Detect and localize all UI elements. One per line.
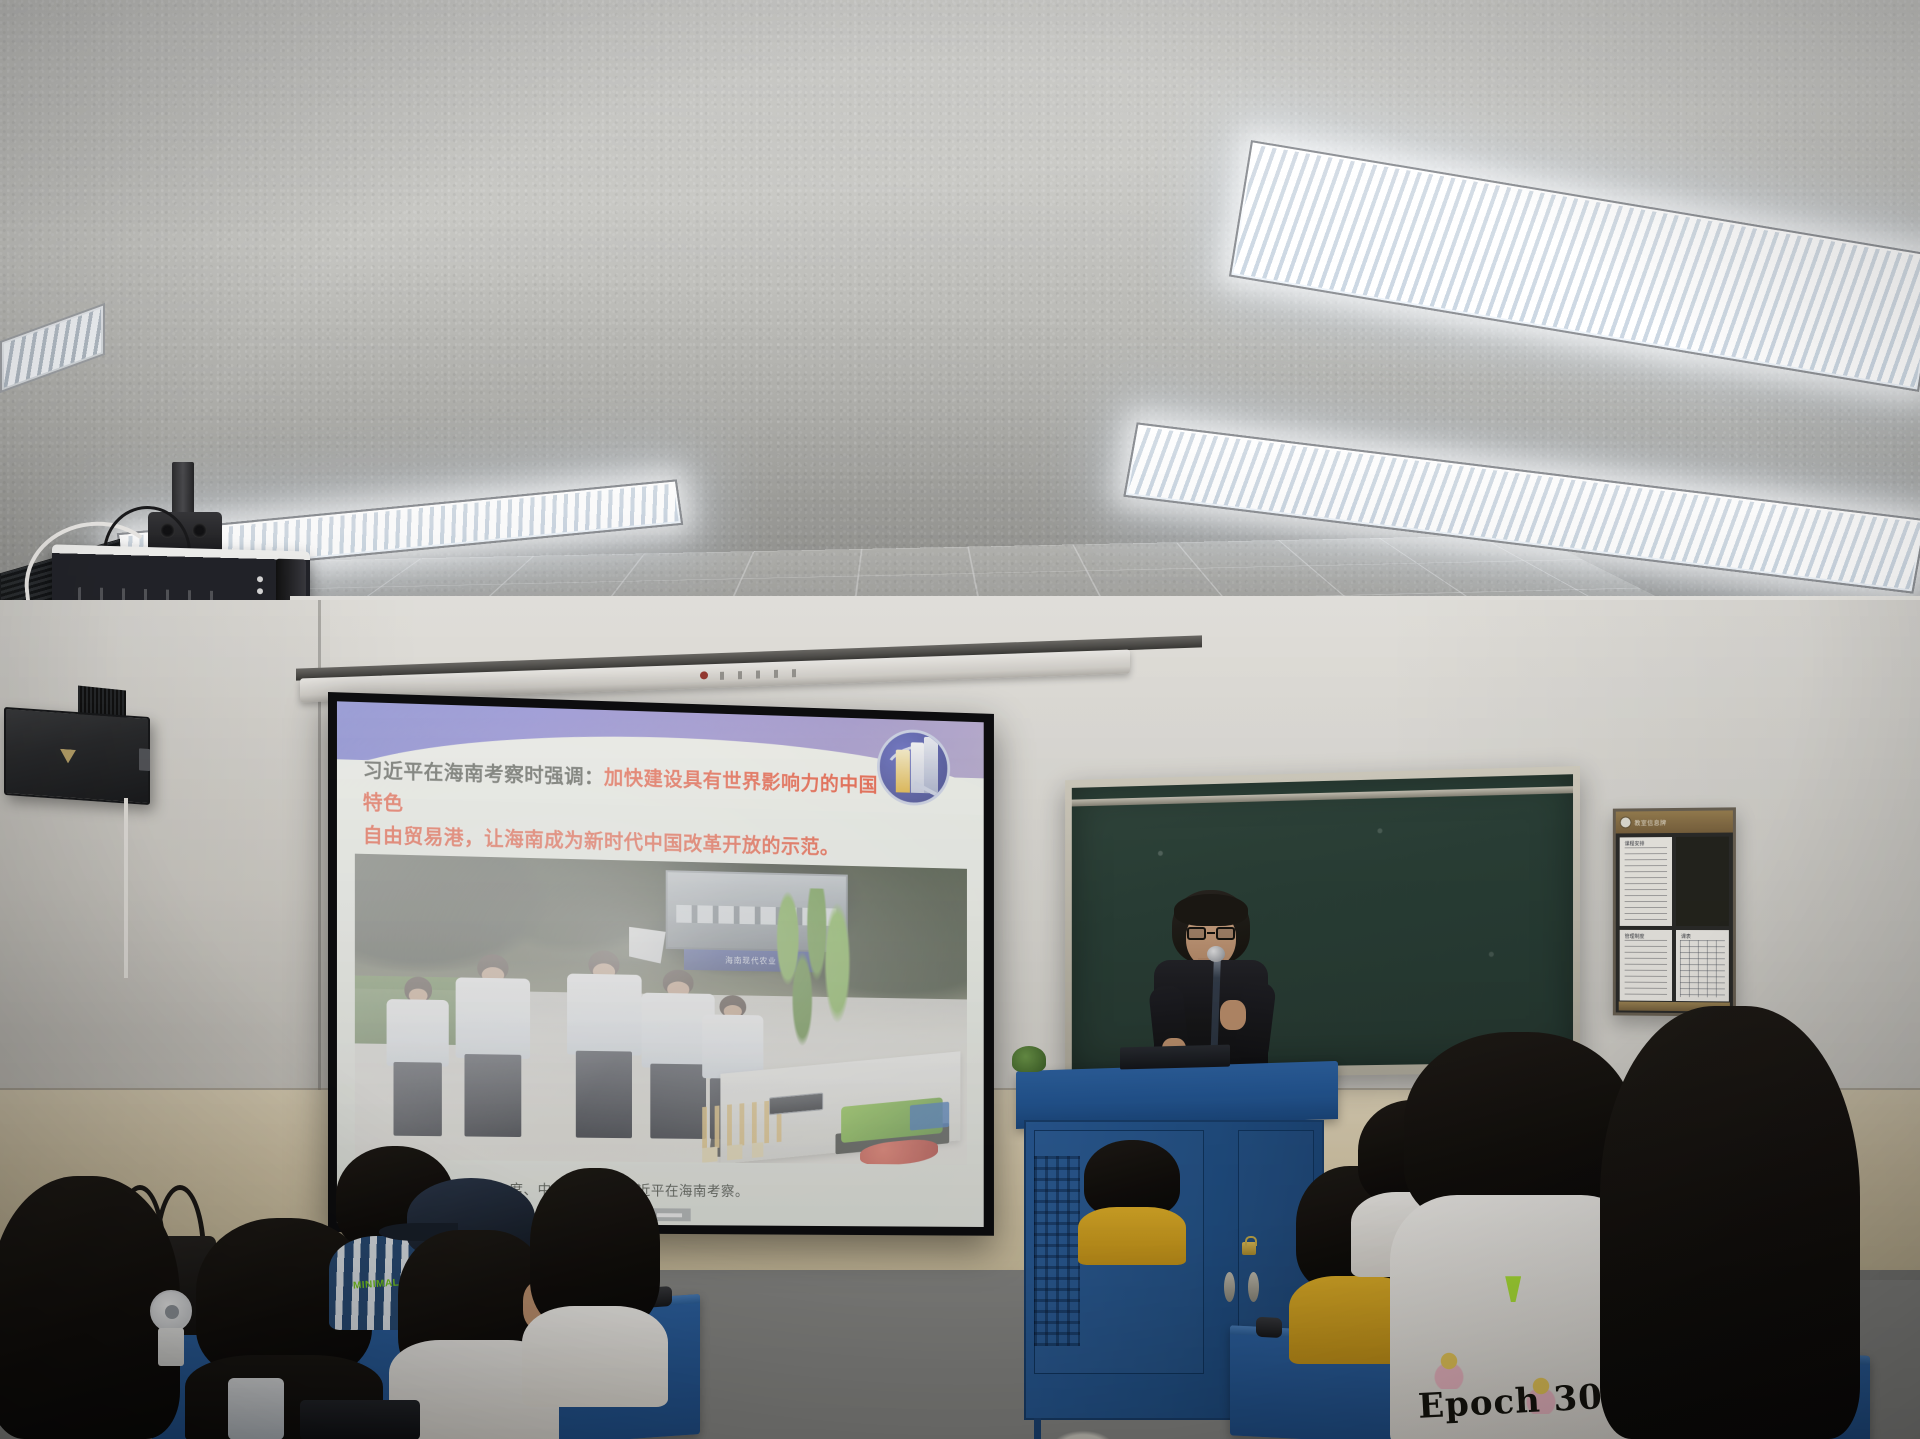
slide-title-emphasis-2: 自由贸易港，让海南成为新时代中国改革开放的示范。 (363, 823, 839, 859)
podium-top-surface (1016, 1061, 1338, 1129)
notice-board-header-text: 教室信息牌 (1634, 818, 1666, 827)
notice-panel-caption: 管理制度 (1625, 933, 1645, 940)
presenter-right-hand (1220, 1000, 1246, 1030)
photo-official (567, 950, 641, 1138)
shirt-floral-graphic (1432, 1349, 1466, 1389)
screen-control-strip[interactable] (720, 669, 796, 680)
photo-official (455, 953, 530, 1136)
student-long-hair-right (1600, 1006, 1860, 1439)
presenter-fringe (1174, 894, 1248, 926)
notice-panel-document: 课程安排 (1620, 837, 1672, 926)
small-potted-plant (1012, 1046, 1046, 1072)
notice-panel-schedule: 课表 (1676, 930, 1729, 1002)
notice-panel-text-lines (1625, 940, 1667, 997)
photo-agency-watermark (910, 1102, 949, 1131)
podium-handle[interactable] (1224, 1272, 1235, 1302)
notice-panel-rules: 管理制度 (1620, 930, 1672, 1001)
handheld-fan (150, 1290, 192, 1366)
student-yellow-shirt-far (1084, 1140, 1180, 1260)
play-bar-right (657, 1213, 682, 1217)
glasses-icon (1187, 927, 1235, 940)
notice-panel-text-lines (1625, 847, 1667, 922)
notice-board-panels: 课程安排 管理制度 课表 (1620, 837, 1729, 1002)
speaker-wire (124, 798, 128, 978)
slide-photograph: 海南现代农业 (355, 854, 967, 1165)
notice-board-header: 教室信息牌 (1616, 810, 1733, 833)
photo-foliage (757, 888, 859, 1057)
smartphone[interactable] (300, 1400, 420, 1439)
podium-vent-holes (1034, 1156, 1080, 1346)
wall-notice-board: 教室信息牌 课程安排 管理制度 课表 (1613, 807, 1736, 1016)
water-bottle (228, 1378, 284, 1439)
slide-title: 习近平在海南考察时强调：加快建设具有世界影响力的中国特色 自由贸易港，让海南成为… (363, 754, 881, 864)
notice-panel-dark (1676, 837, 1729, 926)
speaker-side-plate (139, 748, 150, 771)
slide-title-prefix: 习近平在海南考察时强调： (363, 758, 604, 789)
padlock-icon[interactable] (1242, 1242, 1256, 1255)
floor-cables (1050, 1418, 1160, 1439)
classroom-scene: 教室信息牌 课程安排 管理制度 课表 (0, 0, 1920, 1439)
microphone-icon (1207, 946, 1225, 962)
podium-laptop[interactable] (1120, 1045, 1230, 1070)
school-seal-icon (1620, 816, 1632, 828)
screen-indicator-light (700, 671, 708, 679)
student-white-top (530, 1168, 660, 1398)
wall-speaker (4, 707, 150, 805)
speaker-logo-icon (60, 749, 76, 764)
podium-handle[interactable] (1248, 1272, 1259, 1302)
notice-panel-caption: 课表 (1681, 933, 1691, 940)
notice-panel-table (1680, 940, 1725, 998)
photo-official (386, 977, 449, 1136)
